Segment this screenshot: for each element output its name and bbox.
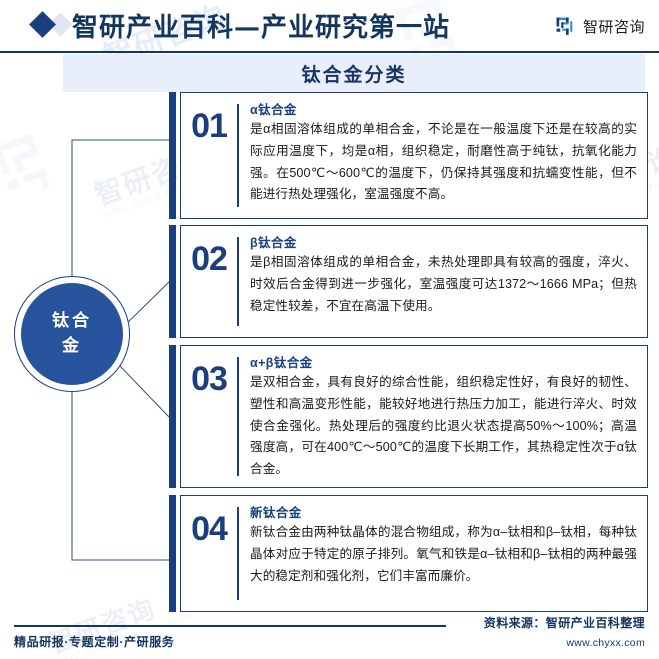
- infographic-page: 智研咨询 INTELLIGENCE RESEARCH GROUP 智研咨询 IN…: [0, 0, 659, 659]
- card-content: 新钛合金 新钛合金由两种钛晶体的混合物组成，称为α–钛相和β–钛相，每种钛晶体对…: [239, 496, 647, 594]
- card-accent-bar: [169, 495, 176, 612]
- card-accent-bar: [169, 225, 176, 338]
- diamond-bullet-icon: [29, 11, 56, 38]
- card-number: 03: [181, 346, 237, 399]
- card-text: 是α相固溶体组成的单相合金，不论是在一般温度下还是在较高的实际应用温度下，均是α…: [250, 119, 637, 206]
- center-node-disc: 钛合 金: [21, 283, 123, 385]
- card-body: 03 α+β钛合金 是双相合金，具有良好的综合性能，组织稳定性好，有良好的韧性、…: [180, 345, 648, 488]
- chart-title: 钛合金分类: [301, 60, 406, 87]
- center-node: 钛合 金: [14, 276, 130, 392]
- card-heading: α+β钛合金: [250, 352, 637, 371]
- footer-divider: [14, 625, 446, 627]
- card-text: 新钛合金由两种钛晶体的混合物组成，称为α–钛相和β–钛相，每种钛晶体对应于特定的…: [250, 522, 637, 587]
- chart-title-band: 钛合金分类: [63, 54, 645, 92]
- source-note: 资料来源：智研产业百科整理: [484, 614, 645, 631]
- footer-services: 精品研报·专题定制·产研服务: [14, 633, 174, 650]
- card-text: 是双相合金，具有良好的综合性能，组织稳定性好，有良好的韧性、塑性和高温变形性能，…: [250, 372, 637, 481]
- center-node-label-line1: 钛合: [52, 309, 92, 334]
- header-divider: [0, 51, 659, 53]
- card-heading: α钛合金: [250, 99, 637, 118]
- page-title: 智研产业百科—产业研究第一站: [72, 7, 450, 44]
- footer-url[interactable]: www.chyxx.com: [566, 637, 645, 649]
- card-content: β钛合金 是β相固溶体组成的单相合金，未热处理即具有较高的强度，淬火、时效后合金…: [239, 226, 647, 324]
- card-body: 01 α钛合金 是α相固溶体组成的单相合金，不论是在一般温度下还是在较高的实际应…: [180, 92, 648, 219]
- card-body: 02 β钛合金 是β相固溶体组成的单相合金，未热处理即具有较高的强度，淬火、时效…: [180, 225, 648, 338]
- page-header: 智研产业百科—产业研究第一站 智研咨询: [0, 0, 659, 52]
- card-accent-bar: [169, 345, 176, 488]
- brand-logo: 智研咨询: [555, 16, 645, 37]
- card-number: 01: [181, 93, 237, 146]
- card-content: α+β钛合金 是双相合金，具有良好的综合性能，组织稳定性好，有良好的韧性、塑性和…: [239, 346, 647, 488]
- brand-name: 智研咨询: [583, 16, 645, 37]
- card-content: α钛合金 是α相固溶体组成的单相合金，不论是在一般温度下还是在较高的实际应用温度…: [239, 93, 647, 213]
- card-number: 04: [181, 496, 237, 549]
- center-node-label-line2: 金: [52, 334, 92, 359]
- category-card[interactable]: 04 新钛合金 新钛合金由两种钛晶体的混合物组成，称为α–钛相和β–钛相，每种钛…: [169, 495, 648, 612]
- category-card[interactable]: 03 α+β钛合金 是双相合金，具有良好的综合性能，组织稳定性好，有良好的韧性、…: [169, 345, 648, 488]
- card-body: 04 新钛合金 新钛合金由两种钛晶体的混合物组成，称为α–钛相和β–钛相，每种钛…: [180, 495, 648, 612]
- center-node-label: 钛合 金: [52, 309, 92, 358]
- zhiyan-logo-icon: [555, 16, 576, 37]
- card-heading: β钛合金: [250, 232, 637, 251]
- card-heading: 新钛合金: [250, 502, 637, 521]
- category-card[interactable]: 02 β钛合金 是β相固溶体组成的单相合金，未热处理即具有较高的强度，淬火、时效…: [169, 225, 648, 338]
- card-accent-bar: [169, 92, 176, 219]
- category-card[interactable]: 01 α钛合金 是α相固溶体组成的单相合金，不论是在一般温度下还是在较高的实际应…: [169, 92, 648, 219]
- card-text: 是β相固溶体组成的单相合金，未热处理即具有较高的强度，淬火、时效后合金得到进一步…: [250, 252, 637, 317]
- card-number: 02: [181, 226, 237, 279]
